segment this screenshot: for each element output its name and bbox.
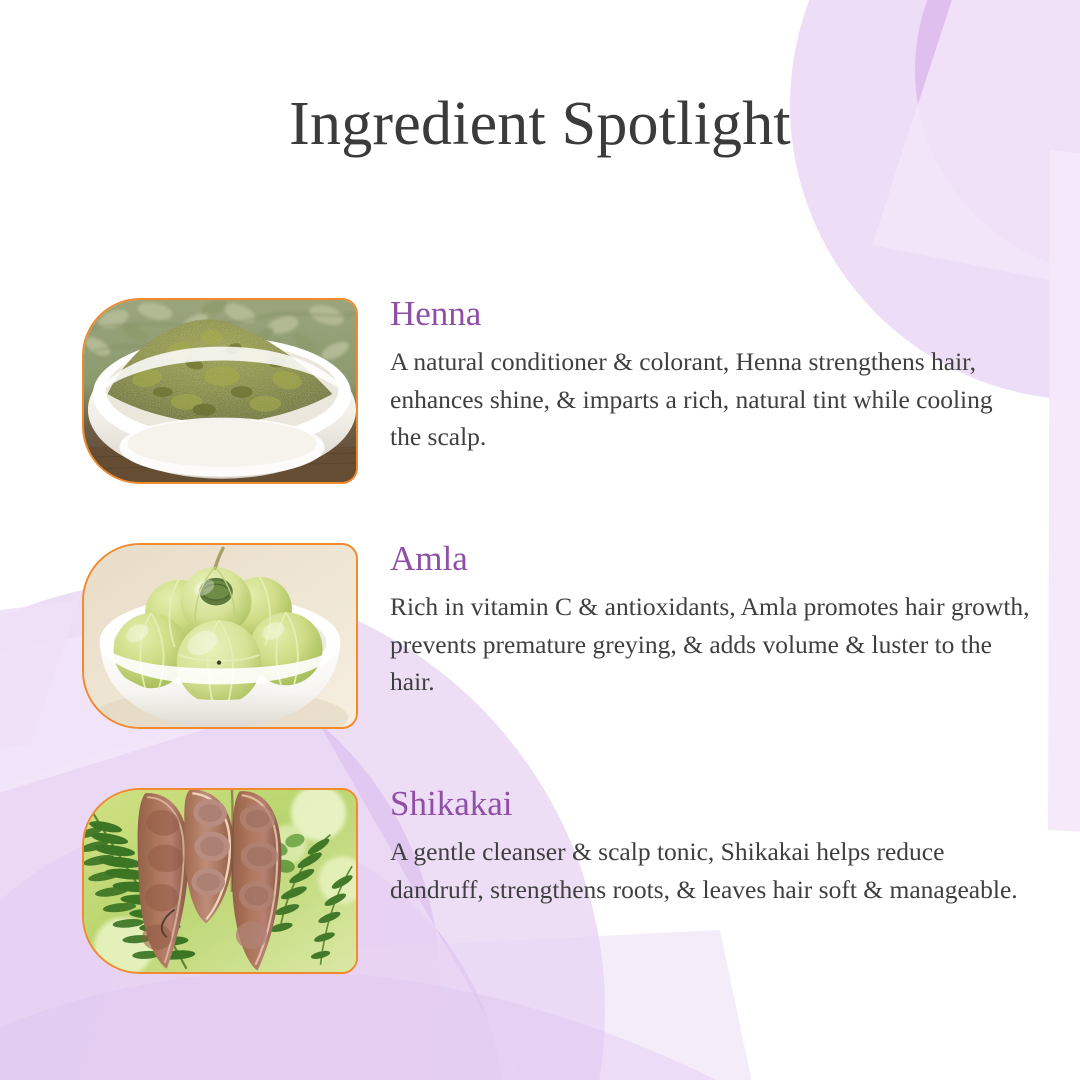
ingredient-name: Amla [390,541,1030,576]
ingredient-description: A natural conditioner & colorant, Henna … [390,343,1030,456]
ingredient-spotlight-poster: Ingredient Spotlight [0,0,1080,1080]
henna-powder-bowl-photo [82,298,358,484]
ingredient-name: Shikakai [390,786,1030,821]
list-item: Henna A natural conditioner & colorant, … [0,298,1080,543]
list-item: Shikakai A gentle cleanser & scalp tonic… [0,788,1080,1033]
ingredient-copy: Henna A natural conditioner & colorant, … [390,296,1030,456]
ingredient-copy: Shikakai A gentle cleanser & scalp tonic… [390,786,1030,908]
ingredient-name: Henna [390,296,1030,331]
ingredient-description: Rich in vitamin C & antioxidants, Amla p… [390,588,1030,701]
list-item: Amla Rich in vitamin C & antioxidants, A… [0,543,1080,788]
ingredient-copy: Amla Rich in vitamin C & antioxidants, A… [390,541,1030,701]
page-title: Ingredient Spotlight [0,92,1080,158]
ingredient-description: A gentle cleanser & scalp tonic, Shikaka… [390,833,1030,908]
shikakai-pods-photo [82,788,358,974]
ingredient-list: Henna A natural conditioner & colorant, … [0,298,1080,1033]
amla-berries-bowl-photo [82,543,358,729]
